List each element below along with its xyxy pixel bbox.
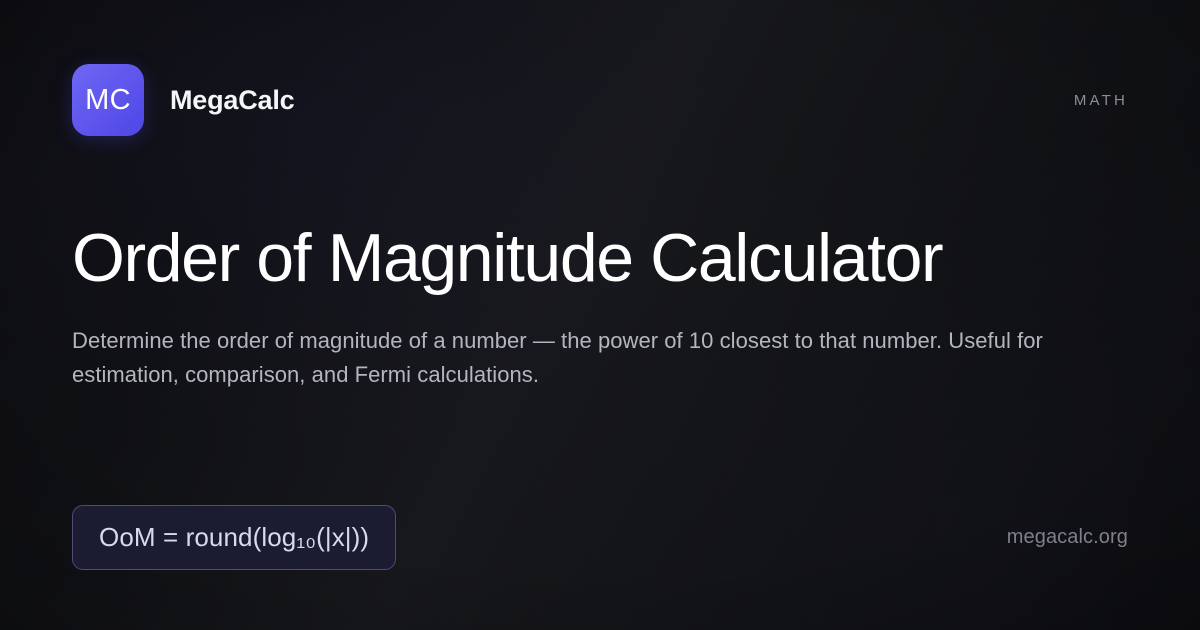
card-header: MC MegaCalc MATH <box>72 64 1128 136</box>
card-main: Order of Magnitude Calculator Determine … <box>72 136 1128 505</box>
logo-initials: MC <box>85 86 131 115</box>
formula-badge: OoM = round(log₁₀(|x|)) <box>72 505 396 570</box>
page-title: Order of Magnitude Calculator <box>72 222 1128 294</box>
share-card: MC MegaCalc MATH Order of Magnitude Calc… <box>0 0 1200 630</box>
category-badge: MATH <box>1074 92 1128 109</box>
card-footer: OoM = round(log₁₀(|x|)) megacalc.org <box>72 505 1128 570</box>
site-url: megacalc.org <box>1007 526 1128 549</box>
page-description: Determine the order of magnitude of a nu… <box>72 324 1052 391</box>
brand-name: MegaCalc <box>170 85 294 116</box>
brand-lockup[interactable]: MC MegaCalc <box>72 64 294 136</box>
megacalc-logo-icon: MC <box>72 64 144 136</box>
